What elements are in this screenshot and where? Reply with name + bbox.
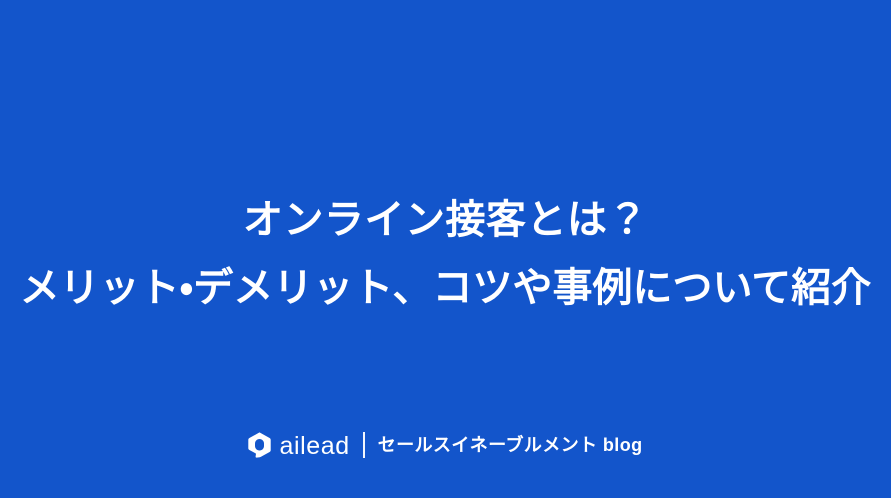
ailead-hexagon-logo-icon — [248, 432, 271, 458]
brand-wordmark: ailead — [279, 434, 349, 459]
article-title: オンライン接客とは？ メリット・デメリット、コツや事例について紹介 — [0, 186, 891, 322]
brand-lockup: ailead セールスイネーブルメント blog — [0, 430, 891, 460]
brand-divider — [363, 432, 365, 458]
blog-thumbnail-banner: オンライン接客とは？ メリット・デメリット、コツや事例について紹介 ailead… — [0, 0, 891, 498]
article-title-line-1: オンライン接客とは？ — [0, 186, 891, 254]
brand-tagline: セールスイネーブルメント blog — [378, 436, 643, 454]
article-title-line-2: メリット・デメリット、コツや事例について紹介 — [0, 254, 891, 322]
